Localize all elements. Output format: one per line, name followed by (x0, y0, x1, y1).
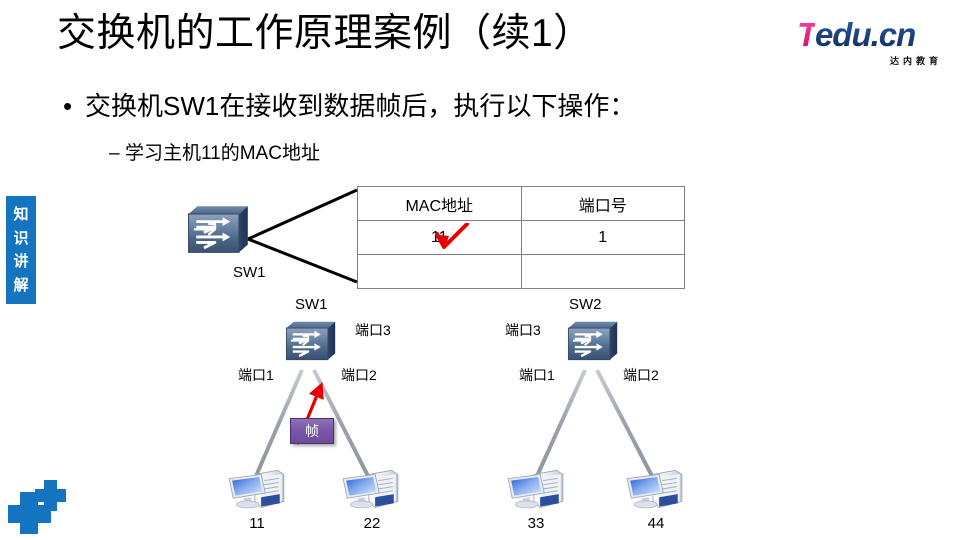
pc-icon-host-11 (229, 470, 284, 508)
label-sw2: SW2 (569, 296, 602, 313)
label-host-22: 22 (350, 515, 394, 532)
pc-icon-host-33 (508, 470, 563, 508)
label-sw2-port2: 端口2 (623, 365, 659, 385)
pc-icon-host-22 (343, 470, 398, 508)
switch-icon-sw2 (568, 322, 617, 360)
network-diagram (0, 0, 960, 540)
label-sw2-port1: 端口1 (519, 365, 555, 385)
label-sw2-port3: 端口3 (505, 320, 541, 340)
label-host-33: 33 (514, 515, 558, 532)
label-host-44: 44 (634, 515, 678, 532)
label-sw1-port2: 端口2 (341, 365, 377, 385)
switch-icon-callout (189, 206, 248, 252)
label-sw1: SW1 (295, 296, 328, 313)
callout-group (189, 190, 357, 282)
label-sw1-port3: 端口3 (355, 320, 391, 340)
switch-icon-sw1 (286, 322, 335, 360)
pc-icon-host-44 (627, 470, 682, 508)
label-sw1-port1: 端口1 (238, 365, 274, 385)
label-host-11: 11 (235, 515, 279, 532)
topology-links (256, 345, 652, 476)
label-callout-sw1: SW1 (233, 264, 266, 281)
slide-canvas: 交换机的工作原理案例（续1） Tedu.cn 达内教育 •交换机SW1在接收到数… (0, 0, 960, 540)
frame-chip: 帧 (290, 418, 334, 444)
